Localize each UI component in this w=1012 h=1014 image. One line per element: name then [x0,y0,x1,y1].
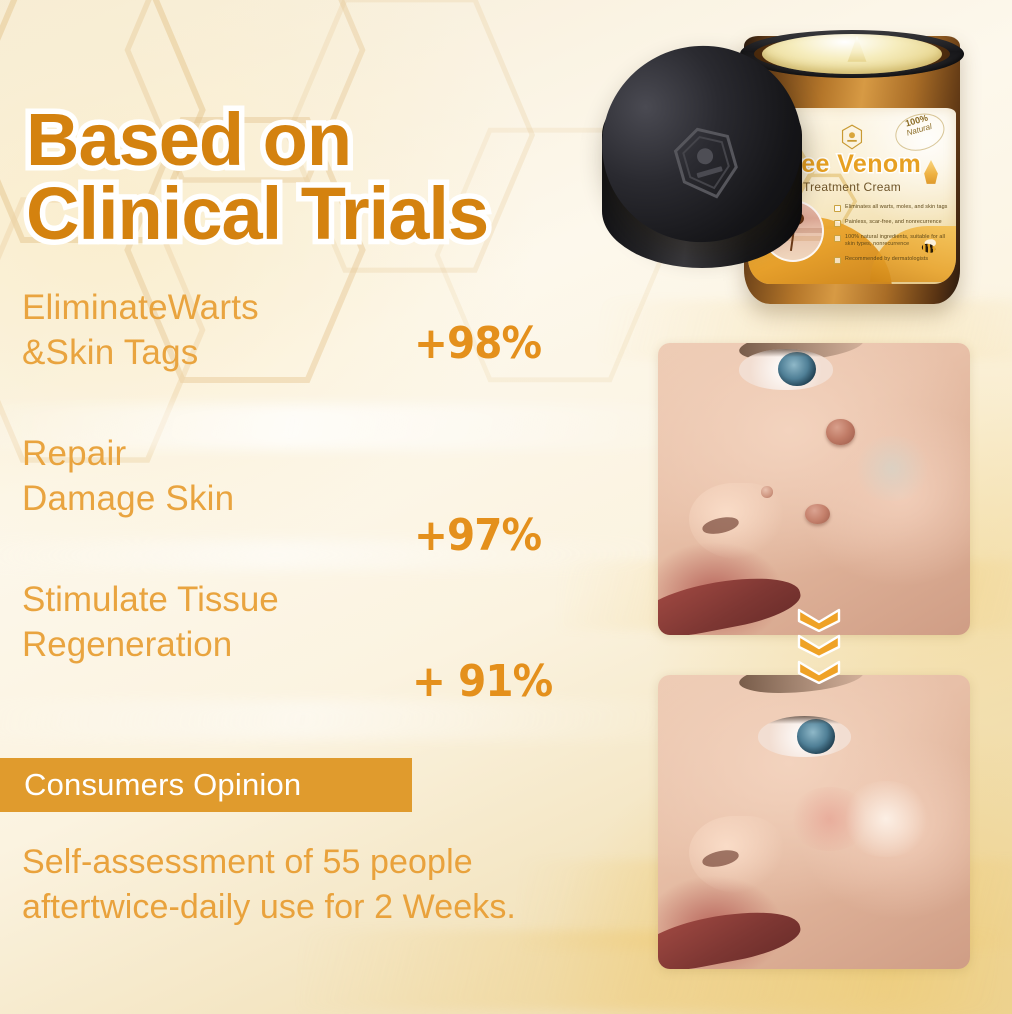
product-feature-text: 100% natural ingredients, suitable for a… [845,234,952,249]
product-feature-item: Painless, scar-free, and nonrecurrence [834,219,952,227]
product-feature-item: Eliminates all warts, moles, and skin ta… [834,204,952,212]
benefit-percent: + 91% [412,656,552,707]
benefit-row: Stimulate Tissue Regeneration + 91% [22,578,622,724]
checkbox-icon [834,205,841,212]
benefit-percent: +98% [414,318,541,369]
benefit-label: Repair Damage Skin [22,432,234,522]
benefit-label: Stimulate Tissue Regeneration [22,578,279,668]
chevron-down-icon [796,634,842,658]
wart-mark [826,419,854,445]
jar-lid [602,38,812,288]
headline-line-1: Based on [26,98,351,181]
product-feature-list: Eliminates all warts, moles, and skin ta… [834,204,952,271]
face-image [658,343,970,635]
poster-canvas: Based on Clinical Trials EliminateWarts … [0,0,1012,1014]
chevron-down-icon [796,660,842,684]
eye [758,716,852,757]
wart-mark [761,486,773,498]
benefit-label: EliminateWarts &Skin Tags [22,286,259,376]
benefit-row: EliminateWarts &Skin Tags +98% [22,286,622,432]
checkbox-icon [834,220,841,227]
wart-mark [805,504,830,524]
cream-peak [840,36,874,62]
benefit-row: Repair Damage Skin +97% [22,432,622,578]
product-image: 100% Natural Bee Venom Treatment Cream E… [596,16,996,316]
product-feature-text: Recommended by dermatologists [845,256,928,263]
cheek-highlight [839,781,933,857]
checkbox-icon [834,235,841,242]
product-feature-item: Recommended by dermatologists [834,256,952,264]
down-arrow-group [790,608,848,688]
product-feature-text: Eliminates all warts, moles, and skin ta… [845,204,947,211]
page-title: Based on Clinical Trials [26,28,488,327]
face-image [658,675,970,969]
checkbox-icon [834,257,841,264]
benefit-percent: +97% [414,510,541,561]
lips [658,567,804,635]
eye [739,349,833,390]
consumers-opinion-label: Consumers Opinion [0,767,301,803]
headline-line-2: Clinical Trials [26,177,488,252]
product-feature-item: 100% natural ingredients, suitable for a… [834,234,952,249]
after-photo [658,675,970,969]
benefits-list: EliminateWarts &Skin Tags +98% Repair Da… [22,286,622,724]
consumers-opinion-note: Self-assessment of 55 people aftertwice-… [22,840,602,930]
lips [658,901,805,969]
before-photo [658,343,970,635]
product-feature-text: Painless, scar-free, and nonrecurrence [845,219,942,226]
skin-texture-patch [851,436,932,500]
consumers-opinion-banner: Consumers Opinion [0,758,412,812]
chevron-down-icon [796,608,842,632]
brand-crest-icon [839,124,865,150]
